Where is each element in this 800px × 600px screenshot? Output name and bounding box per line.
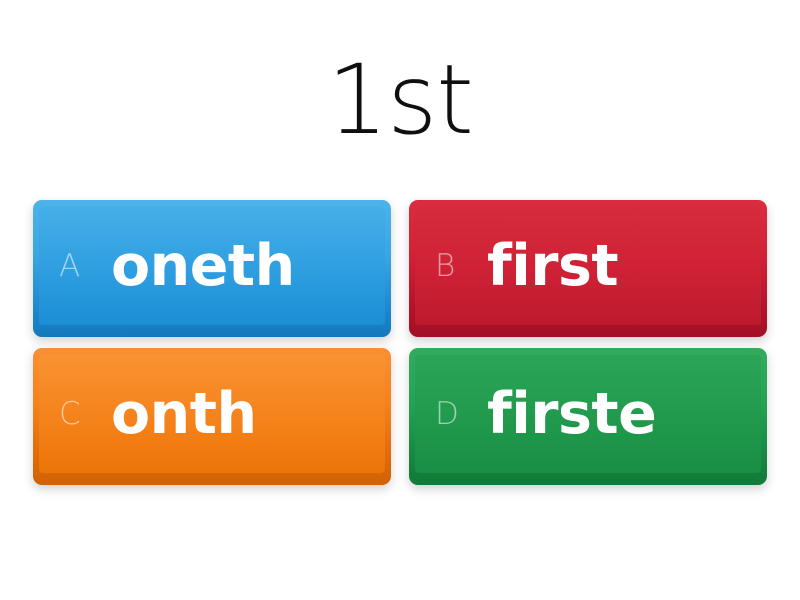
answer-text-a: oneth (111, 238, 295, 295)
answer-content-b: B first (409, 200, 767, 337)
answer-letter-a: A (59, 251, 111, 282)
answer-content-a: A oneth (33, 200, 391, 337)
answer-letter-d: D (435, 399, 487, 430)
answer-option-a[interactable]: A oneth (33, 200, 391, 337)
answer-content-d: D firste (409, 348, 767, 485)
answer-options-grid: A oneth B first C onth (33, 200, 767, 485)
answer-text-d: firste (487, 386, 656, 443)
question-prompt: 1st (327, 52, 473, 148)
answer-letter-c: C (59, 399, 111, 430)
answer-option-d[interactable]: D firste (409, 348, 767, 485)
quiz-stage: 1st A oneth B first C (0, 0, 800, 600)
answer-letter-b: B (435, 251, 487, 282)
prompt-area: 1st (0, 0, 800, 200)
answer-content-c: C onth (33, 348, 391, 485)
answer-option-b[interactable]: B first (409, 200, 767, 337)
answer-text-b: first (487, 238, 618, 295)
answer-text-c: onth (111, 386, 257, 443)
answer-option-c[interactable]: C onth (33, 348, 391, 485)
